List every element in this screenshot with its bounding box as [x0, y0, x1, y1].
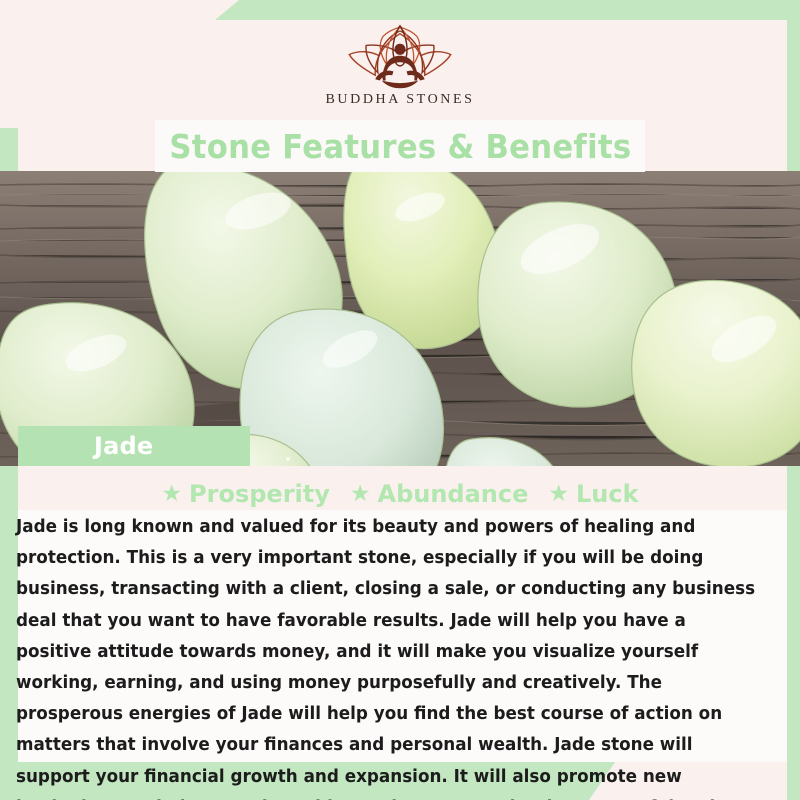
brand-name: BUDDHA STONES — [325, 92, 474, 108]
benefit-label: Luck — [576, 480, 639, 508]
benefit-item-abundance: ★ Abundance — [350, 480, 529, 508]
star-icon: ★ — [350, 483, 371, 506]
title-banner: Stone Features & Benefits — [155, 120, 645, 172]
stone-info-card: BUDDHA STONES Stone Features & Benefits — [0, 0, 800, 800]
lotus-meditation-icon — [335, 22, 465, 88]
page-title: Stone Features & Benefits — [169, 127, 631, 166]
star-icon: ★ — [161, 483, 182, 506]
benefit-item-luck: ★ Luck — [548, 480, 638, 508]
brand-logo: BUDDHA STONES — [0, 22, 800, 118]
benefit-label: Abundance — [378, 480, 529, 508]
stone-name-tag: Jade — [18, 426, 250, 466]
stone-photo — [0, 171, 800, 466]
decoration-top-right-band — [215, 0, 800, 20]
benefit-label: Prosperity — [189, 480, 330, 508]
benefit-item-prosperity: ★ Prosperity — [161, 480, 329, 508]
benefits-row: ★ Prosperity ★ Abundance ★ Luck — [0, 478, 800, 510]
stone-name-label: Jade — [94, 432, 153, 460]
stone-description: Jade is long known and valued for its be… — [16, 512, 765, 800]
star-icon: ★ — [548, 483, 569, 506]
